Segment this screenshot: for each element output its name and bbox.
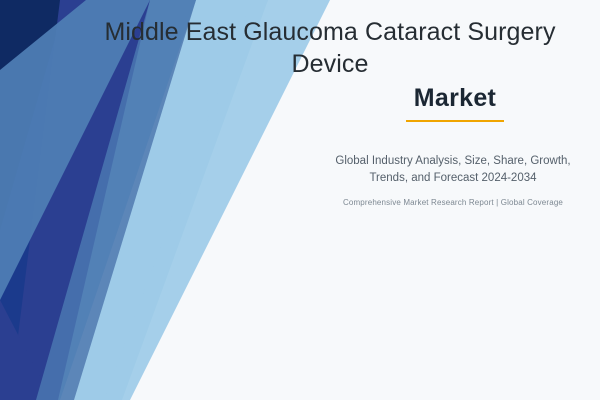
accent-divider: [406, 120, 504, 122]
report-subtitle: Global Industry Analysis, Size, Share, G…: [322, 153, 584, 186]
page-title: Middle East Glaucoma Cataract Surgery De…: [80, 16, 580, 80]
report-tagline: Comprehensive Market Research Report | G…: [322, 198, 584, 207]
title-emphasis-word: Market: [330, 84, 580, 113]
report-cover: Middle East Glaucoma Cataract Surgery De…: [0, 0, 600, 400]
